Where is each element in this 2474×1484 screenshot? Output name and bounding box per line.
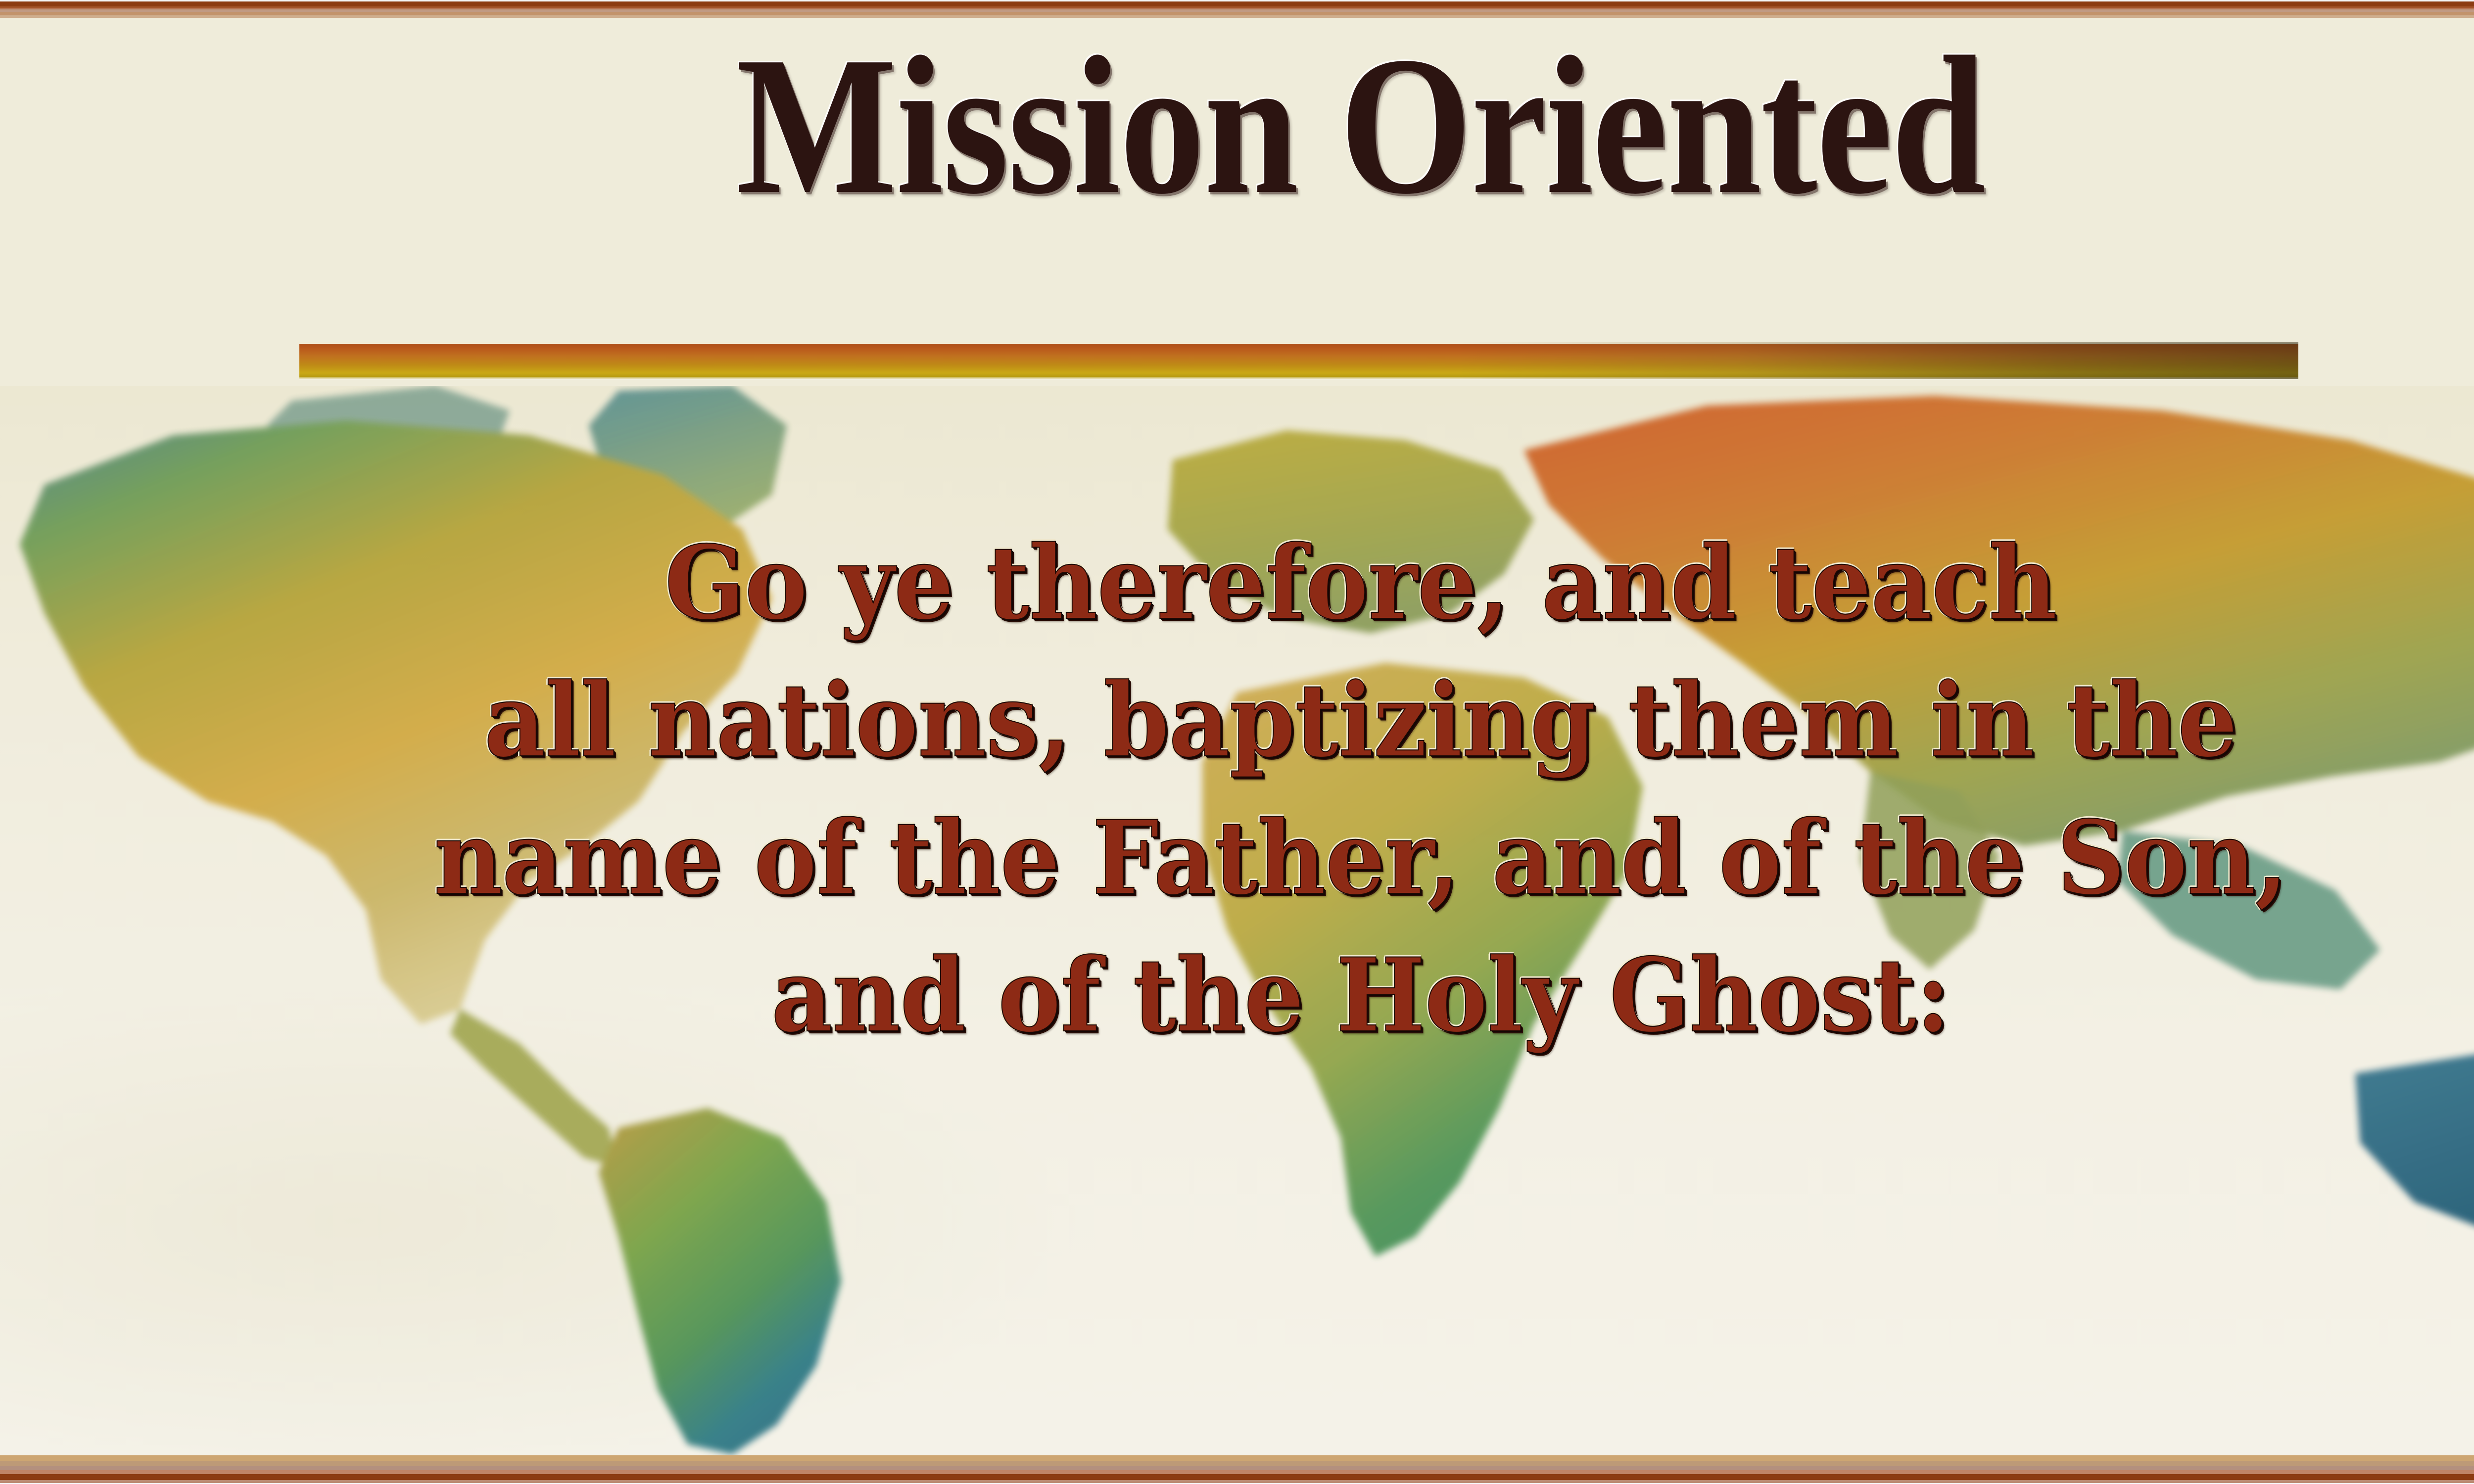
north-america-shape	[20, 420, 772, 1024]
south-america-shape	[599, 1108, 841, 1454]
southeast-asia-shape	[2118, 831, 2380, 989]
top-border	[0, 0, 2474, 18]
title-divider-bar	[299, 342, 2298, 379]
world-map-background	[0, 386, 2474, 1457]
bottom-border	[0, 1455, 2474, 1484]
map-continents	[20, 386, 2474, 1454]
page-title: Mission Oriented	[190, 27, 2474, 225]
europe-shape	[1168, 430, 1534, 633]
world-map-svg	[0, 386, 2474, 1457]
central-america-shape	[450, 1009, 618, 1167]
asia-shape	[1524, 396, 2474, 846]
poster-canvas: Mission Oriented Go ye therefore, and te…	[0, 0, 2474, 1484]
australia-shape	[2355, 1049, 2474, 1237]
title-band: Mission Oriented	[0, 18, 2474, 386]
africa-shape	[1202, 663, 1643, 1256]
